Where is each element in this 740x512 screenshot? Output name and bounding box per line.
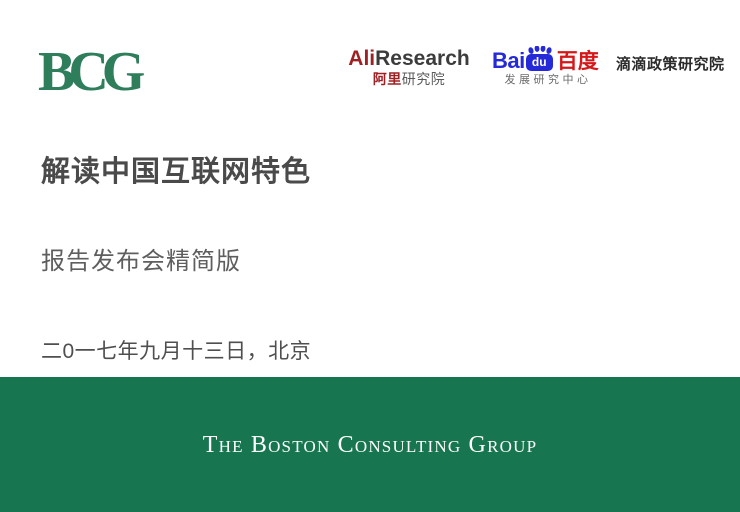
aliresearch-chinese-red-text: 阿里 [373,71,402,87]
aliresearch-word-text: Research [375,47,470,70]
aliresearch-chinese-lockup: 阿里研究院 [338,72,480,87]
slide-canvas: BCG AliResearch 阿里研究院 Baidu百度 发展研究中心 滴滴政… [0,0,740,512]
baidu-du-badge-label: du [532,55,547,69]
baidu-paw-print-icon [527,45,553,56]
date-location-line: 二0一七年九月十三日，北京 [41,339,641,364]
bcg-logo: BCG [38,44,138,100]
page-subtitle: 报告发布会精简版 [41,248,641,277]
baidu-logo: Baidu百度 发展研究中心 [492,46,604,86]
aliresearch-chinese-gray-text: 研究院 [402,71,446,87]
didi-policy-research-logo: 滴滴政策研究院 [616,57,725,72]
footer-band: The Boston Consulting Group [0,377,740,512]
aliresearch-latin-lockup: AliResearch [338,48,480,70]
baidu-chinese-text: 百度 [557,51,599,72]
aliresearch-logo: AliResearch 阿里研究院 [338,48,480,87]
partner-logo-strip: BCG AliResearch 阿里研究院 Baidu百度 发展研究中心 滴滴政… [0,0,740,120]
baidu-subtitle-text: 发展研究中心 [492,75,604,86]
baidu-latin-lockup: Baidu百度 [492,46,604,72]
baidu-latin-prefix-text: Bai [492,50,525,72]
bcg-footer-wordmark: The Boston Consulting Group [0,433,740,457]
title-block: 解读中国互联网特色 报告发布会精简版 二0一七年九月十三日，北京 [41,155,641,364]
baidu-du-badge: du [526,54,553,71]
aliresearch-mark-text: Ali [348,47,375,70]
page-title: 解读中国互联网特色 [41,155,641,190]
